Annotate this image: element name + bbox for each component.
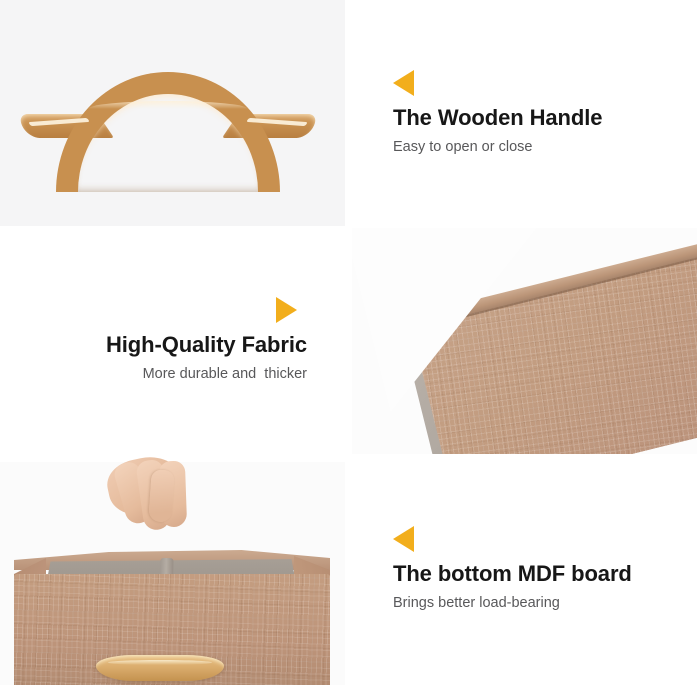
mdf-board-headline: The bottom MDF board [393, 561, 632, 586]
wooden-handle-subline: Easy to open or close [393, 139, 532, 156]
fabric-scene [352, 228, 697, 454]
triangle-right-icon [276, 297, 297, 323]
fabric-headline: High-Quality Fabric [106, 332, 307, 357]
wooden-handle-photo [0, 0, 345, 226]
hand-thumb [148, 469, 175, 522]
fabric-text-block: High-Quality Fabric More durable and thi… [0, 226, 350, 454]
product-feature-collage: The Wooden Handle Easy to open or close … [0, 0, 697, 685]
wooden-handle-text-block: The Wooden Handle Easy to open or close [345, 0, 697, 226]
fabric-subline: More durable and thicker [143, 366, 307, 383]
triangle-left-icon [393, 526, 414, 552]
fabric-closeup-photo [352, 228, 697, 454]
mdf-board-subline: Brings better load-bearing [393, 595, 560, 612]
handle-arc [56, 72, 280, 192]
bin-wooden-handle [96, 655, 224, 681]
mdf-board-text-block: The bottom MDF board Brings better load-… [345, 454, 697, 685]
wooden-handle-headline: The Wooden Handle [393, 105, 602, 130]
wooden-handle-illustration [22, 72, 314, 138]
triangle-left-icon [393, 70, 414, 96]
